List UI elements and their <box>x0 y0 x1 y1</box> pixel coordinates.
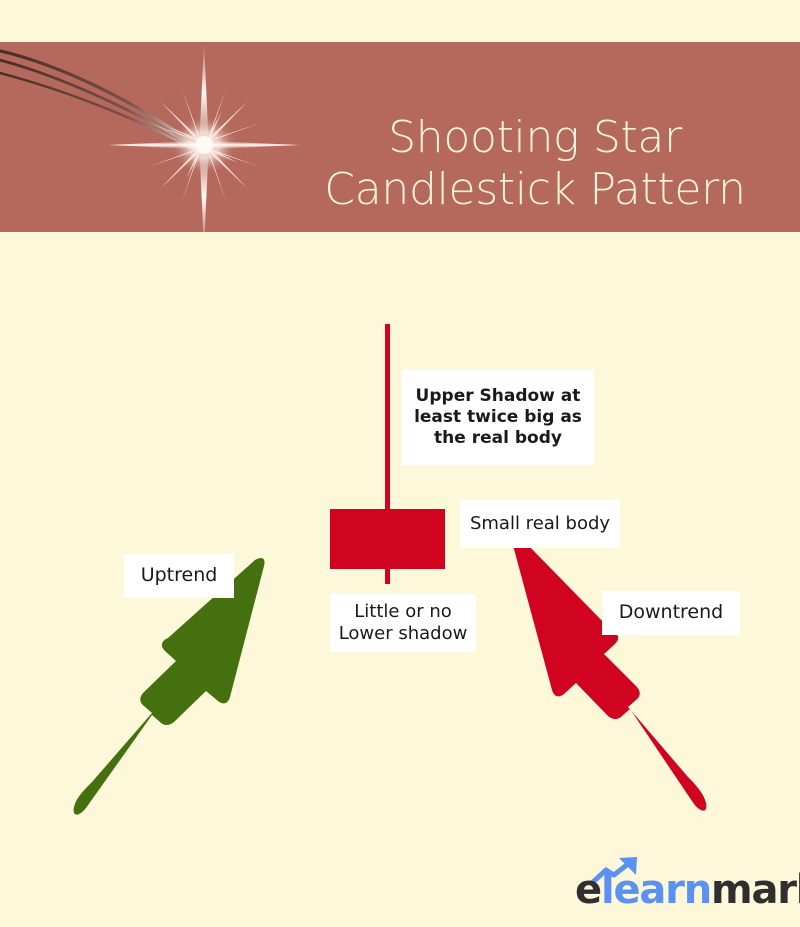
candle-upper-shadow <box>385 324 390 514</box>
logo-highlight: learn <box>601 867 711 913</box>
candle-real-body <box>330 509 445 569</box>
header-band: Shooting Star Candlestick Pattern <box>0 42 800 232</box>
label-small-real-body: Small real body <box>460 500 620 548</box>
label-uptrend: Uptrend <box>124 554 234 598</box>
logo-prefix: e <box>575 867 601 913</box>
shooting-star-icon <box>0 42 300 232</box>
brand-logo[interactable]: elearnmarkets <box>575 858 790 910</box>
label-lower-shadow: Little or no Lower shadow <box>330 594 476 652</box>
candle-lower-shadow <box>385 562 390 584</box>
logo-suffix: markets <box>711 867 800 913</box>
page-title: Shooting Star Candlestick Pattern <box>300 112 770 216</box>
downtrend-arrow-icon <box>480 530 715 820</box>
label-upper-shadow: Upper Shadow at least twice big as the r… <box>402 370 594 465</box>
infographic-canvas: Shooting Star Candlestick Pattern Upper … <box>0 0 800 927</box>
label-downtrend: Downtrend <box>602 591 740 635</box>
brand-logo-text: elearnmarkets <box>575 870 800 910</box>
